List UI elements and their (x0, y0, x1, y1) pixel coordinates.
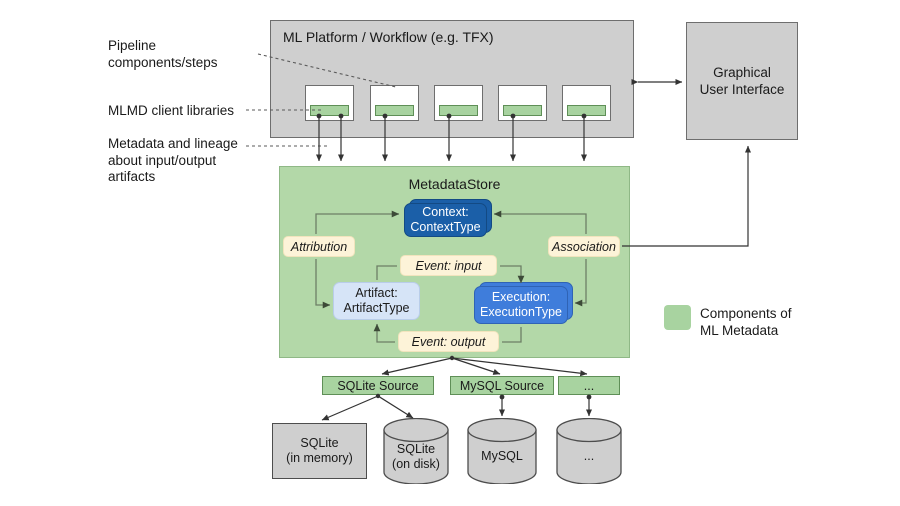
association-relation[interactable]: Association (548, 236, 620, 257)
cylinder-shape-sqlite-on-disk (383, 418, 449, 484)
other-source-box[interactable]: ... (558, 376, 620, 395)
cylinder-shape-other (556, 418, 622, 484)
other-db[interactable]: ... (556, 418, 622, 484)
attribution-relation[interactable]: Attribution (283, 236, 355, 257)
event-output-relation[interactable]: Event: output (398, 331, 499, 352)
context-node[interactable]: Context: ContextType (404, 203, 487, 237)
association-gui-connector (622, 146, 748, 246)
pipeline-component-5[interactable] (562, 85, 611, 121)
pipeline-component-4[interactable] (498, 85, 547, 121)
mlmd-client-library-4[interactable] (503, 105, 542, 116)
event-input-relation[interactable]: Event: input (400, 255, 497, 276)
sqlite-source-box[interactable]: SQLite Source (322, 376, 434, 395)
annotation-mlmd-client-libraries: MLMD client libraries (108, 103, 288, 120)
sqlite-on-disk-db[interactable]: SQLite (on disk) (383, 418, 449, 484)
pipeline-component-3[interactable] (434, 85, 483, 121)
artifact-node[interactable]: Artifact: ArtifactType (333, 282, 420, 320)
sqlite-in-memory-db[interactable]: SQLite (in memory) (272, 423, 367, 479)
cylinder-shape-mysql (467, 418, 537, 484)
annotation-metadata-lineage: Metadata and lineage about input/output … (108, 136, 283, 186)
pipeline-component-2[interactable] (370, 85, 419, 121)
graphical-user-interface-box[interactable]: Graphical User Interface (686, 22, 798, 140)
metadata-store-title: MetadataStore (280, 176, 629, 192)
ml-platform-title: ML Platform / Workflow (e.g. TFX) (283, 29, 494, 45)
mysql-source-box[interactable]: MySQL Source (450, 376, 554, 395)
pipeline-component-1[interactable] (305, 85, 354, 121)
mysql-db[interactable]: MySQL (467, 418, 537, 484)
execution-node[interactable]: Execution: ExecutionType (474, 286, 568, 324)
mlmd-client-library-2[interactable] (375, 105, 414, 116)
mlmd-client-library-1[interactable] (310, 105, 349, 116)
legend-color-swatch (664, 305, 691, 330)
store-to-sources-arrows (382, 356, 587, 374)
diagram-canvas: Pipeline components/steps MLMD client li… (0, 0, 900, 506)
sources-to-databases-arrows (322, 394, 589, 420)
mlmd-client-library-5[interactable] (567, 105, 606, 116)
legend-label: Components of ML Metadata (700, 306, 860, 339)
annotation-pipeline-components: Pipeline components/steps (108, 38, 273, 71)
mlmd-client-library-3[interactable] (439, 105, 478, 116)
